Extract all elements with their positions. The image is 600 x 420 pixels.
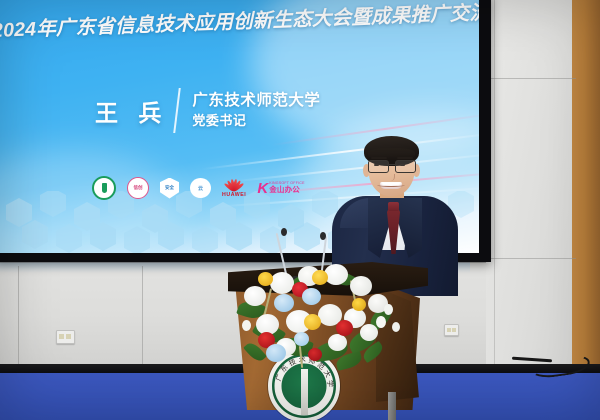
side-wall xyxy=(486,0,572,372)
wall-seam xyxy=(488,78,576,79)
eyebrow-left xyxy=(371,157,387,159)
kingsoft-logo: K KINGSOFT OFFICE 金山办公 xyxy=(257,181,304,196)
cloud-circle-logo: 云 xyxy=(190,178,211,198)
eyeglasses xyxy=(368,160,416,171)
speaker-affiliation: 广东技术师范大学 xyxy=(192,91,320,112)
flower-white xyxy=(328,334,347,351)
huawei-wordmark: HUAWEI xyxy=(222,192,246,198)
mouth-smiling xyxy=(380,182,402,189)
green-circle-logo xyxy=(92,176,116,200)
speaker-affiliation-block: 广东技术师范大学 党委书记 xyxy=(192,91,320,131)
wall-seam xyxy=(18,266,19,364)
flower-bud xyxy=(376,316,386,328)
kingsoft-label-cn: 金山办公 xyxy=(269,186,304,194)
flower-yellow xyxy=(304,314,321,330)
blue-shield-logo: 安全 xyxy=(160,178,179,199)
speaker-name: 王 兵 xyxy=(95,94,168,128)
wall-seam xyxy=(488,258,576,259)
wall-socket xyxy=(444,324,459,336)
flower-bud xyxy=(392,322,400,332)
microphone-head-right xyxy=(320,232,326,240)
conference-photo: 2024年广东省信息技术应用创新生态大会暨成果推广交流会 王 兵 广东技术师范大… xyxy=(0,0,600,420)
speaker-name-block: 王 兵 广东技术师范大学 党委书记 xyxy=(95,88,320,133)
kingsoft-k-icon: K xyxy=(257,181,268,196)
flower-red xyxy=(308,348,322,361)
flower-yellow xyxy=(352,298,366,311)
name-divider xyxy=(174,88,182,133)
blue-shield-logo-text: 安全 xyxy=(160,178,179,199)
flower-white xyxy=(360,324,378,341)
flower-white xyxy=(350,276,372,296)
wall-socket xyxy=(56,330,75,344)
flower-blue xyxy=(294,332,309,346)
podium-stem xyxy=(388,392,396,420)
wall-seam xyxy=(142,266,143,364)
flower-yellow xyxy=(258,272,273,286)
eyebrow-right xyxy=(397,157,413,159)
flower-white xyxy=(270,272,294,294)
flower-blue xyxy=(266,344,286,362)
speaker-position: 党委书记 xyxy=(192,112,320,131)
pink-seal-logo: 信创 xyxy=(127,177,149,199)
wall-seam xyxy=(494,0,495,366)
huawei-logo: HUAWEI xyxy=(222,178,246,198)
wood-column xyxy=(572,0,600,366)
flower-arrangement xyxy=(236,258,414,368)
event-title: 2024年广东省信息技术应用创新生态大会暨成果推广交流会 xyxy=(0,0,479,43)
flower-yellow xyxy=(312,270,328,285)
pink-seal-logo-text: 信创 xyxy=(127,177,149,199)
flower-white xyxy=(244,286,266,306)
huawei-flower-icon xyxy=(224,178,244,191)
necktie-knot xyxy=(388,202,399,211)
flower-bud xyxy=(384,304,393,315)
flower-red xyxy=(336,320,353,336)
flower-blue xyxy=(302,288,321,305)
microphone-head-left xyxy=(281,228,287,236)
flower-bud xyxy=(242,320,251,331)
flower-blue xyxy=(274,294,294,312)
sponsor-logo-row: 信创 安全 云 HUAWE xyxy=(92,176,305,200)
cloud-circle-logo-text: 云 xyxy=(190,178,211,198)
